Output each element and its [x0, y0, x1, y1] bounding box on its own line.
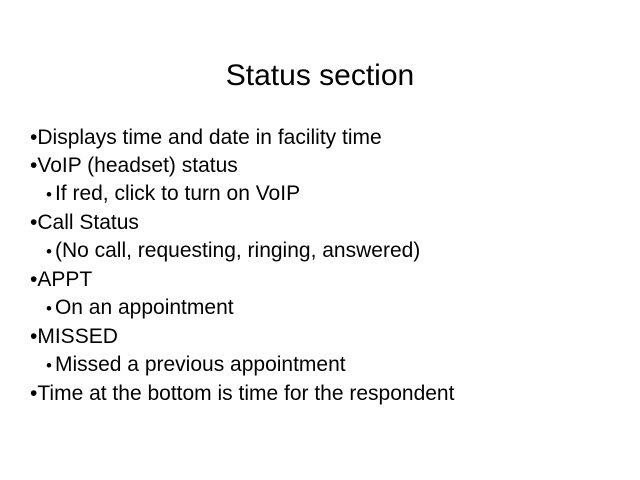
bullet-item-label: On an appointment: [55, 296, 234, 319]
presentation-slide: Status section •Displays time and date i…: [0, 0, 640, 480]
bullet-point-icon: •: [46, 352, 52, 380]
bullet-item-label: MISSED: [37, 325, 118, 348]
bullet-item: •MISSED: [0, 323, 640, 351]
bullet-item: •APPT: [0, 266, 640, 294]
bullet-item-label: Time at the bottom is time for the respo…: [37, 382, 454, 405]
bullet-item-label: APPT: [37, 268, 92, 291]
bullet-item: •On an appointment: [0, 294, 640, 323]
bullet-item: •(No call, requesting, ringing, answered…: [0, 237, 640, 266]
bullet-item-label: If red, click to turn on VoIP: [55, 182, 300, 205]
bullet-item: •Displays time and date in facility time: [0, 124, 640, 152]
bullet-item: •Missed a previous appointment: [0, 351, 640, 380]
bullet-item: •Call Status: [0, 209, 640, 237]
bullet-item: •Time at the bottom is time for the resp…: [0, 380, 640, 408]
bullet-point-icon: •: [46, 295, 52, 323]
bullet-item-label: Call Status: [37, 211, 139, 234]
bullet-item: •If red, click to turn on VoIP: [0, 180, 640, 209]
bullet-item-label: Displays time and date in facility time: [37, 126, 381, 149]
bullet-item-label: (No call, requesting, ringing, answered): [55, 239, 420, 262]
slide-body-content: •Displays time and date in facility time…: [0, 124, 640, 408]
bullet-point-icon: •: [46, 238, 52, 266]
bullet-item: •VoIP (headset) status: [0, 152, 640, 180]
bullet-point-icon: •: [46, 181, 52, 209]
page-title: Status section: [0, 58, 640, 94]
bullet-item-label: Missed a previous appointment: [55, 353, 346, 376]
bullet-item-label: VoIP (headset) status: [37, 154, 237, 177]
